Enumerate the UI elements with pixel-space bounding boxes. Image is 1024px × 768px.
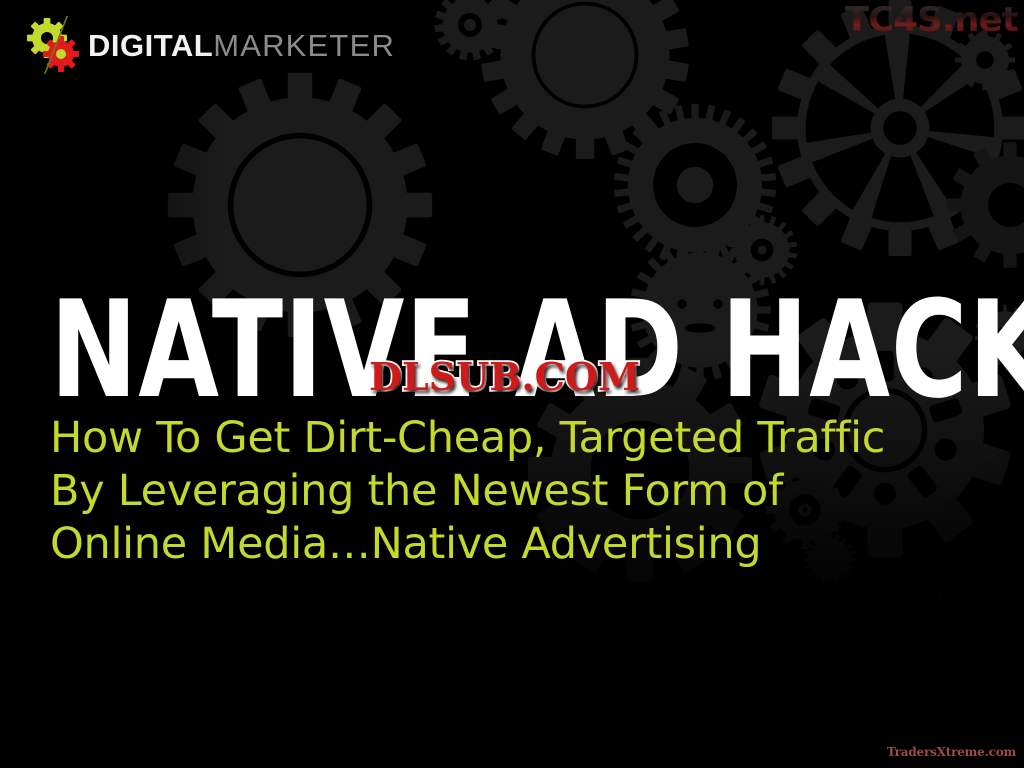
subtitle-line-1: How To Get Dirt-Cheap, Targeted Traffic: [50, 412, 885, 465]
tc4s-watermark: TC4S.net: [845, 2, 1018, 39]
digitalmarketer-logo[interactable]: DIGITALMARKETER: [24, 16, 395, 74]
subtitle-line-3: Online Media…Native Advertising: [50, 518, 885, 571]
dlsub-watermark: DLSUB.COM: [369, 358, 640, 396]
slide-subtitle: How To Get Dirt-Cheap, Targeted Traffic …: [50, 412, 885, 571]
presentation-slide: DIGITALMARKETER TC4S.net NATIVE AD HACKS…: [0, 0, 1024, 768]
gears-logo-icon: [24, 16, 86, 74]
subtitle-line-2: By Leveraging the Newest Form of: [50, 465, 885, 518]
logo-primary-text: DIGITAL: [88, 30, 213, 61]
tradersxtreme-watermark: TradersXtreme.com: [887, 746, 1016, 758]
logo-secondary-text: MARKETER: [213, 30, 395, 61]
logo-wordmark: DIGITALMARKETER: [88, 30, 395, 61]
